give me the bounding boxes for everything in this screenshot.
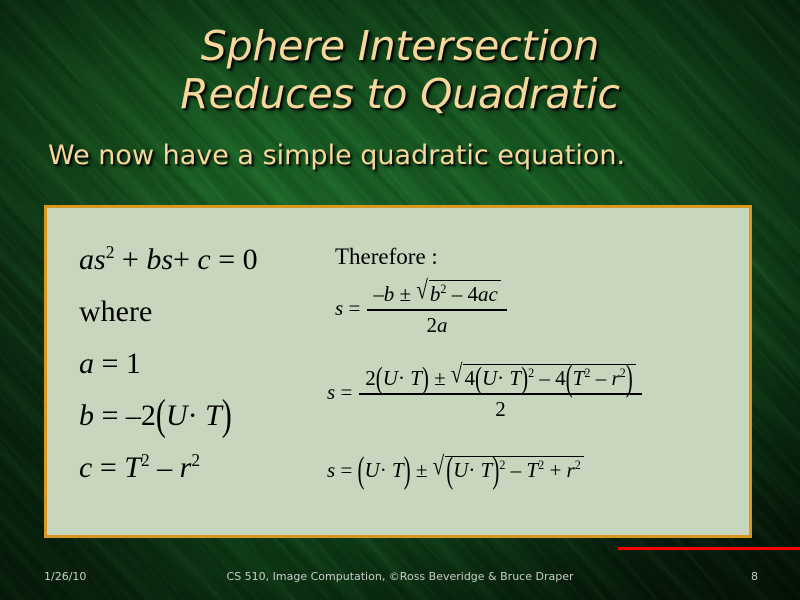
rad2-four: 4	[464, 366, 475, 390]
formula-substituted-roots: s = 2(U· T) ± √4(U· T)2 – 4(T2 – r2) 2	[327, 364, 642, 422]
slide-title-line-1: Sphere Intersection	[0, 22, 800, 70]
rad3-T: T	[481, 458, 493, 482]
rad2-dot: ·	[497, 366, 504, 390]
slide-title-line-2: Reduces to Quadratic	[0, 70, 800, 118]
term-s: s	[94, 243, 106, 276]
term-c-lhs: c	[79, 451, 92, 484]
num2-plusminus: ±	[434, 366, 446, 390]
rad2-U: U	[482, 366, 497, 390]
vector-U-b: U	[166, 399, 188, 432]
rad3-exp2: 2	[499, 458, 505, 472]
value-zero: 0	[243, 243, 258, 276]
rad1-minus: –	[452, 282, 463, 306]
rad2-minus2: –	[596, 366, 607, 390]
f3-plusminus: ±	[416, 458, 428, 482]
rad3-r-exp: 2	[575, 458, 581, 472]
dot-product-b: ·	[188, 399, 198, 432]
rad3-T2-exp: 2	[538, 458, 544, 472]
formula-1-numerator: –b ± √b2 – 4ac	[367, 280, 506, 309]
rad2-minus: –	[539, 366, 550, 390]
rad2-T: T	[509, 366, 521, 390]
rad1-b: b	[430, 282, 441, 306]
result-highlight-rule	[618, 547, 800, 550]
exponent-2: 2	[106, 242, 115, 262]
coefficient-two: 2	[141, 399, 156, 432]
rad2-lparen2: (	[566, 357, 573, 401]
radius-r-c: r	[180, 451, 192, 484]
f3-s: s	[327, 458, 335, 482]
lhs-eq-1: =	[348, 296, 360, 320]
term-b: b	[146, 243, 161, 276]
rad1-c: c	[488, 282, 497, 306]
left-equation-column: as2 + bs+ c = 0 where a = 1 b = –2(U· T)…	[79, 234, 258, 494]
num2-dot: ·	[398, 366, 405, 390]
term-a: a	[79, 243, 94, 276]
surd-icon-2: √	[451, 359, 463, 390]
formula-1-denominator: 2a	[367, 311, 506, 338]
radical-3: √(U· T)2 – T2 + r2	[433, 456, 584, 483]
operator-equals: =	[218, 243, 235, 276]
operator-plus: +	[122, 243, 139, 276]
operator-equals-c: =	[100, 451, 117, 484]
formula-2-fraction: 2(U· T) ± √4(U· T)2 – 4(T2 – r2) 2	[359, 364, 641, 422]
radical-1: √b2 – 4ac	[416, 280, 500, 307]
rad1-exp2: 2	[440, 282, 446, 296]
exponent-2-r: 2	[191, 450, 200, 470]
rad3-dot: ·	[468, 458, 475, 482]
num2-lparen: (	[376, 360, 383, 396]
formula-3-expression: s = (U· T) ± √(U· T)2 – T2 + r2	[327, 458, 584, 482]
f3-dot: ·	[380, 458, 387, 482]
rad3-U: U	[453, 458, 468, 482]
rad2-T2: T	[573, 366, 585, 390]
formula-2-lhs: s =	[327, 380, 359, 405]
term-b-lhs: b	[79, 399, 94, 432]
slide-subtitle: We now have a simple quadratic equation.	[48, 139, 625, 173]
radicand-1: b2 – 4ac	[429, 280, 501, 307]
rad3-T2: T	[526, 458, 538, 482]
left-paren-b: (	[156, 378, 166, 453]
num1-b: b	[384, 282, 395, 306]
formula-2-numerator: 2(U· T) ± √4(U· T)2 – 4(T2 – r2)	[359, 364, 641, 393]
equations-panel: as2 + bs+ c = 0 where a = 1 b = –2(U· T)…	[44, 205, 752, 538]
num2-U: U	[383, 366, 398, 390]
rad2-rparen2: )	[626, 357, 633, 401]
vector-T-c: T	[124, 451, 141, 484]
formula-simplified-result: s = (U· T) ± √(U· T)2 – T2 + r2	[327, 456, 584, 483]
right-derivation-column: Therefore : s = –b ± √b2 – 4ac 2a s =	[335, 244, 438, 270]
operator-plus-2: +	[173, 243, 190, 276]
radical-2: √4(U· T)2 – 4(T2 – r2)	[451, 364, 636, 391]
rad1-four: 4	[467, 282, 478, 306]
footer-page-number: 8	[751, 562, 758, 592]
rad2-exp2: 2	[528, 366, 534, 380]
num1-plusminus: ±	[400, 282, 412, 306]
value-one: 1	[126, 347, 141, 380]
lhs-eq-2: =	[340, 380, 352, 404]
den1-two: 2	[427, 313, 438, 337]
f3-rparen: )	[404, 449, 411, 493]
therefore-label: Therefore :	[335, 244, 438, 270]
term-s-2: s	[161, 243, 173, 276]
equation-b: b = –2(U· T)	[79, 390, 258, 442]
surd-icon-3: √	[433, 451, 445, 482]
rad1-a: a	[478, 282, 489, 306]
lhs-s-1: s	[335, 296, 343, 320]
term-c: c	[197, 243, 210, 276]
surd-icon-1: √	[416, 275, 428, 306]
slide-title: Sphere Intersection Reduces to Quadratic	[0, 22, 800, 118]
rad3-r: r	[567, 458, 575, 482]
operator-equals-b: =	[102, 399, 119, 432]
rad2-rparen: )	[521, 360, 528, 396]
equation-quadratic-general: as2 + bs+ c = 0	[79, 234, 258, 286]
exponent-2-T: 2	[141, 450, 150, 470]
operator-equals-a: =	[102, 347, 119, 380]
footer-attribution: CS 510, Image Computation, ©Ross Beverid…	[0, 562, 800, 592]
radicand-3: (U· T)2 – T2 + r2	[445, 456, 584, 483]
den1-a: a	[437, 313, 448, 337]
operator-minus-c: –	[157, 451, 172, 484]
rad3-plus: +	[549, 458, 561, 482]
f3-U: U	[365, 458, 380, 482]
operator-minus-b: –	[126, 399, 141, 432]
f3-lparen: (	[358, 449, 365, 493]
rad3-minus: –	[511, 458, 522, 482]
formula-2-denominator: 2	[359, 395, 641, 422]
f3-equals: =	[340, 458, 352, 482]
rad2-lparen: (	[475, 360, 482, 396]
term-a-lhs: a	[79, 347, 94, 380]
lhs-s-2: s	[327, 380, 335, 404]
radicand-2: 4(U· T)2 – 4(T2 – r2)	[463, 364, 635, 391]
num1-minus: –	[373, 282, 384, 306]
vector-T-b: T	[205, 399, 222, 432]
rad3-lparen: (	[446, 449, 453, 493]
num2-T: T	[410, 366, 422, 390]
rad3-rparen: )	[492, 449, 499, 493]
formula-1-fraction: –b ± √b2 – 4ac 2a	[367, 280, 506, 338]
f3-T: T	[392, 458, 404, 482]
formula-quadratic-roots: s = –b ± √b2 – 4ac 2a	[335, 280, 507, 338]
rad2-T2-exp: 2	[584, 366, 590, 380]
rad2-r: r	[611, 366, 619, 390]
right-paren-b: )	[222, 378, 232, 453]
where-label: where	[79, 286, 258, 338]
num2-two: 2	[365, 366, 376, 390]
num2-rparen: )	[422, 360, 429, 396]
slide-canvas: Sphere Intersection Reduces to Quadratic…	[0, 0, 800, 600]
formula-1-lhs: s =	[335, 296, 367, 321]
rad2-four2: 4	[555, 366, 566, 390]
